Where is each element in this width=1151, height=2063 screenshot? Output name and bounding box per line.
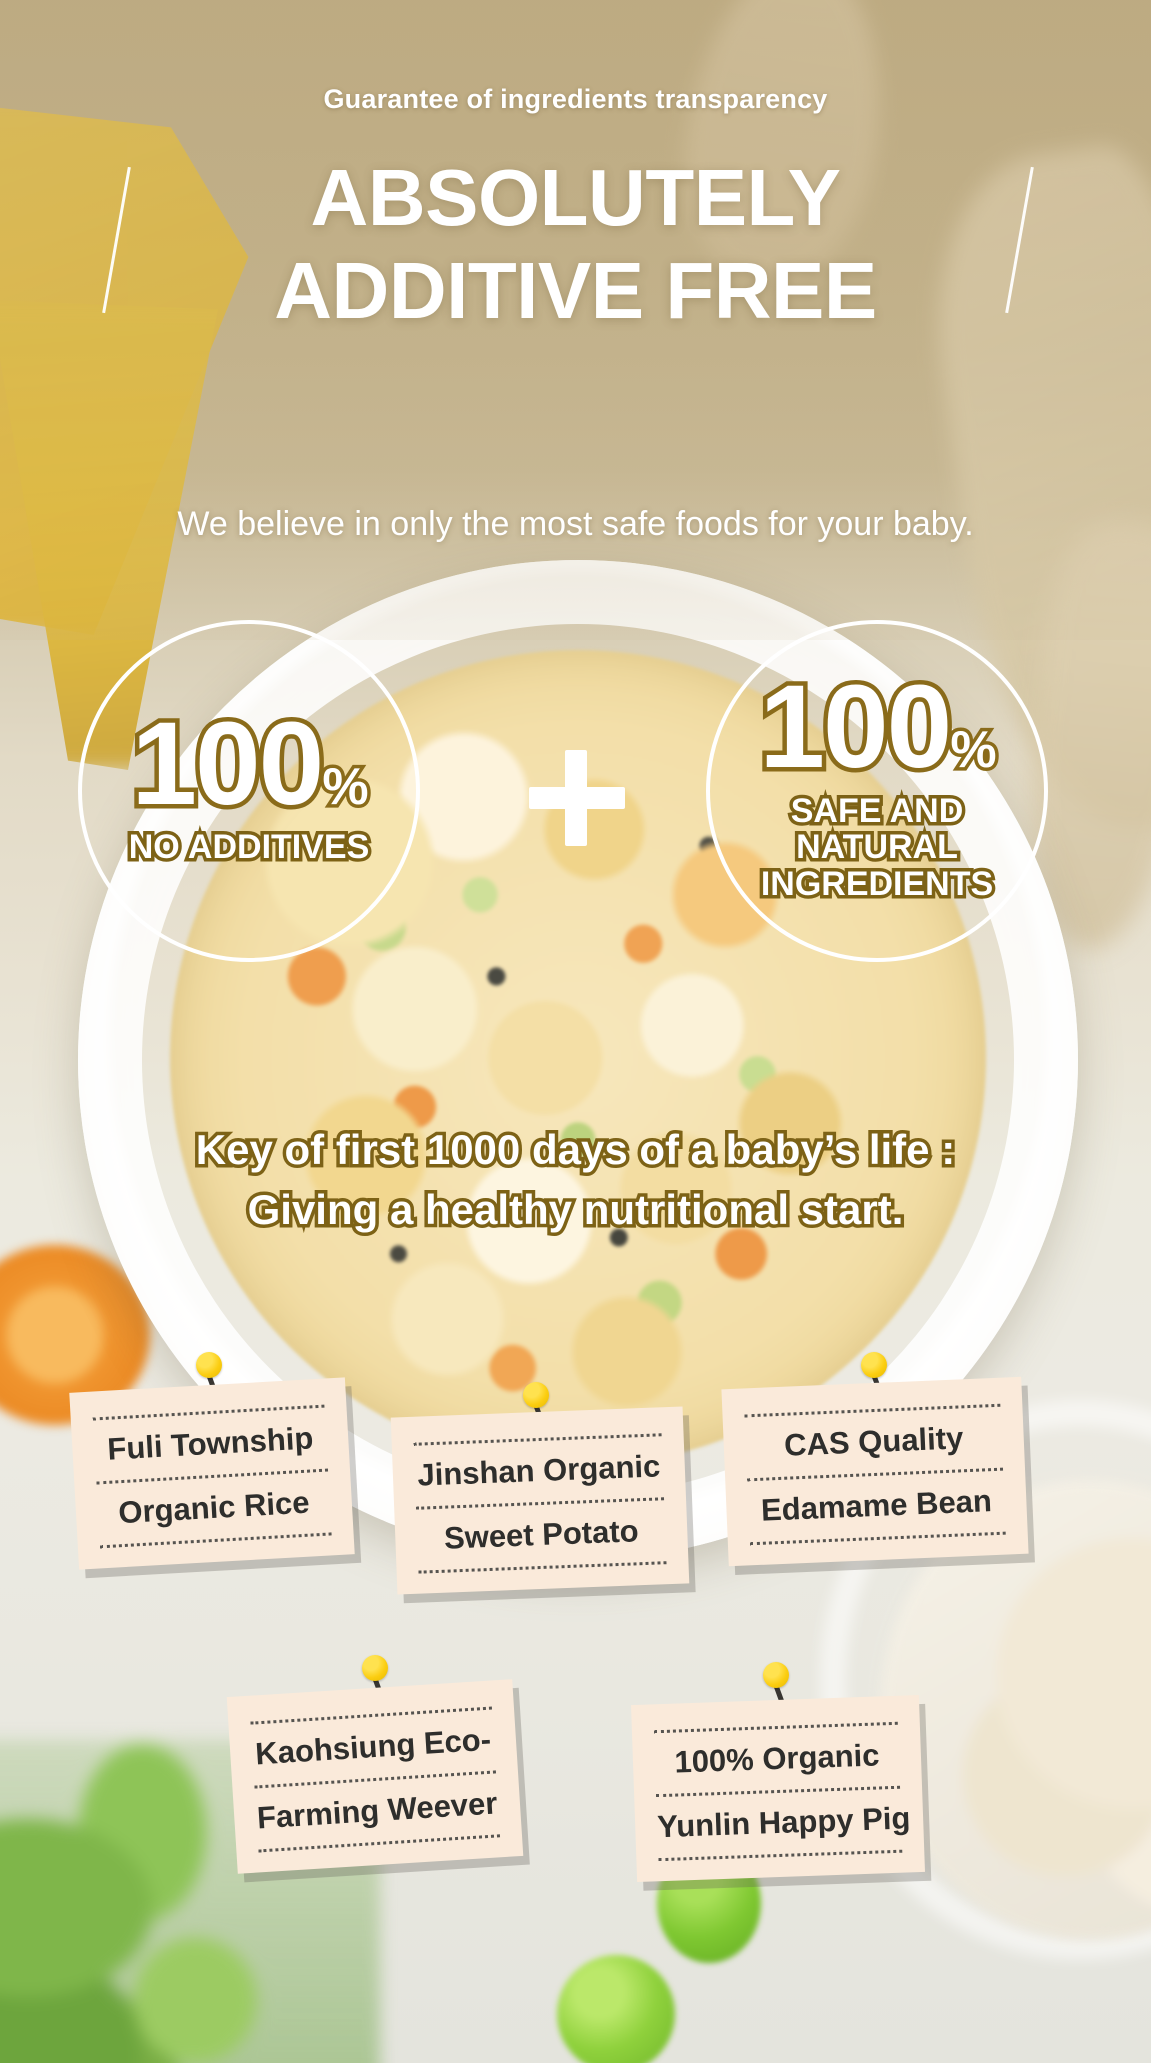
ingredient-card-3: CAS Quality Edamame Bean bbox=[721, 1377, 1028, 1566]
pin-head-icon-1 bbox=[196, 1352, 222, 1378]
ingredient-card-5-line-1: 100% Organic bbox=[654, 1725, 900, 1794]
pin-head-icon-5 bbox=[763, 1662, 789, 1688]
badge-no-additives: 100% NO ADDITIVES bbox=[78, 620, 420, 962]
ingredient-card-5-line-2: Yunlin Happy Pig bbox=[656, 1789, 902, 1858]
badge-number-right-value: 100 bbox=[759, 661, 950, 793]
headline-line-2: ADDITIVE FREE bbox=[0, 245, 1151, 338]
background-pea-a bbox=[557, 1955, 675, 2063]
promo-poster: Guarantee of ingredients transparency AB… bbox=[0, 0, 1151, 2063]
headline-line-1: ABSOLUTELY bbox=[0, 152, 1151, 245]
plus-icon bbox=[529, 750, 625, 846]
badge-label-right: SAFE AND NATURAL INGREDIENTS bbox=[710, 793, 1044, 903]
badge-percent-left: % bbox=[322, 758, 366, 816]
subtitle-text: We believe in only the most safe foods f… bbox=[0, 505, 1151, 544]
pin-head-icon-2 bbox=[523, 1382, 549, 1408]
pin-head-icon-4 bbox=[362, 1655, 388, 1681]
ingredient-card-1: Fuli Township Organic Rice bbox=[69, 1377, 354, 1569]
ingredient-card-5: 100% Organic Yunlin Happy Pig bbox=[631, 1695, 925, 1882]
badge-percent-right: % bbox=[950, 721, 994, 779]
ingredient-card-3-line-1: CAS Quality bbox=[745, 1407, 1003, 1479]
badge-group: 100% NO ADDITIVES 100% SAFE AND NATURAL … bbox=[0, 620, 1151, 970]
badge-label-left: NO ADDITIVES bbox=[129, 829, 370, 866]
badge-number-right: 100% bbox=[759, 671, 994, 784]
ingredient-card-2-line-1: Jinshan Organic bbox=[414, 1436, 664, 1506]
ingredient-card-3-line-2: Edamame Bean bbox=[747, 1471, 1005, 1543]
eyebrow-text: Guarantee of ingredients transparency bbox=[0, 84, 1151, 115]
badge-safe-natural: 100% SAFE AND NATURAL INGREDIENTS bbox=[706, 620, 1048, 962]
badge-number-left-value: 100 bbox=[131, 698, 322, 830]
ingredient-card-4: Kaohsiung Eco- Farming Weever bbox=[227, 1679, 524, 1874]
badge-number-left: 100% bbox=[131, 708, 366, 821]
page-title: ABSOLUTELY ADDITIVE FREE bbox=[0, 152, 1151, 338]
ingredient-card-2: Jinshan Organic Sweet Potato bbox=[391, 1406, 690, 1594]
key-message: Key of first 1000 days of a baby’s life … bbox=[0, 1120, 1151, 1239]
pin-head-icon-3 bbox=[861, 1352, 887, 1378]
ingredient-card-2-line-2: Sweet Potato bbox=[416, 1500, 666, 1570]
